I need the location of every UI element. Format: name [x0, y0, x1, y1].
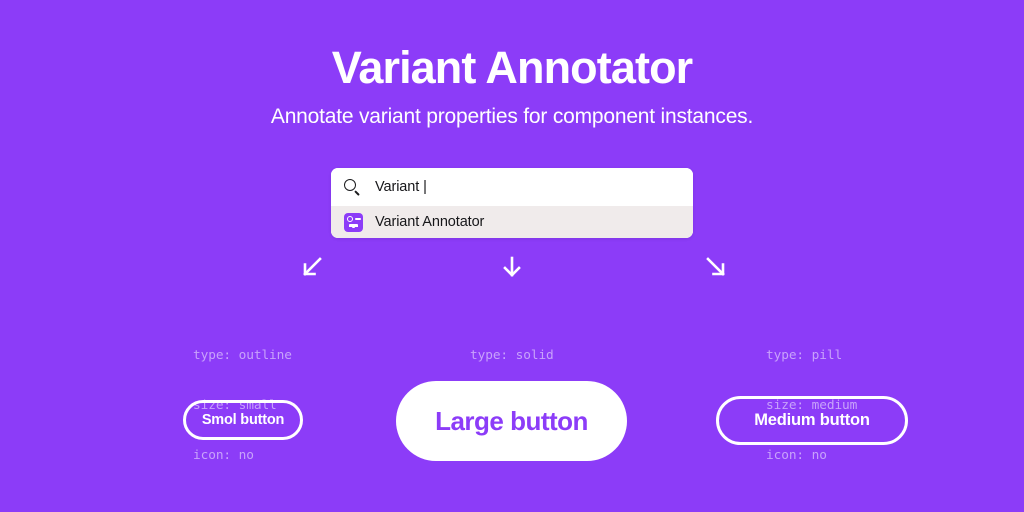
- annotation-line-type: type: pill: [766, 348, 966, 365]
- arrow-down-icon: [495, 250, 529, 284]
- arrow-down-left-icon: [295, 250, 329, 284]
- search-input-row[interactable]: Variant |: [331, 168, 693, 206]
- promo-canvas: Variant Annotator Annotate variant prope…: [0, 0, 1024, 512]
- smol-button[interactable]: Smol button: [183, 400, 303, 440]
- variant-button-wrapper: Large button: [396, 381, 627, 461]
- search-palette[interactable]: Variant | Variant Annotator: [331, 168, 693, 238]
- arrow-down-right-icon: [699, 250, 733, 284]
- large-button[interactable]: Large button: [396, 381, 627, 461]
- search-icon: [344, 179, 361, 196]
- search-result-item[interactable]: Variant Annotator: [331, 206, 693, 238]
- variant-button-wrapper: Smol button: [183, 400, 303, 440]
- variant-annotator-plugin-icon: [344, 213, 363, 232]
- search-result-label: Variant Annotator: [375, 214, 484, 230]
- annotation-line-type: type: solid: [470, 348, 730, 365]
- medium-button[interactable]: Medium button: [716, 396, 908, 445]
- search-input[interactable]: Variant |: [375, 179, 427, 195]
- annotation-line-icon: icon: no: [193, 448, 383, 465]
- page-title: Variant Annotator: [0, 44, 1024, 93]
- annotation-line-icon: icon: no: [766, 448, 966, 465]
- annotation-line-type: type: outline: [193, 348, 383, 365]
- variant-button-wrapper: Medium button: [716, 396, 908, 445]
- page-subtitle: Annotate variant properties for componen…: [0, 104, 1024, 130]
